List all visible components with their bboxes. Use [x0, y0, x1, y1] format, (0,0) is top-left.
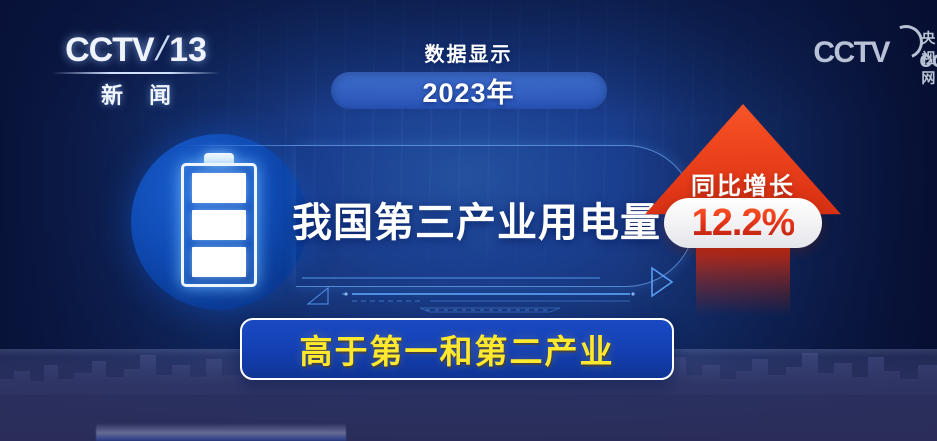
battery-segment	[192, 247, 246, 277]
year-pill: 2023年	[331, 72, 607, 109]
broadcast-infographic-stage: CCTV / 13 新 闻 CCTV 央视网 com 数据显示 2023年 我国…	[0, 0, 937, 441]
battery-segment	[192, 173, 246, 203]
growth-value: 12.2%	[692, 204, 795, 242]
battery-body	[181, 163, 257, 287]
growth-arrow: 同比增长 12.2%	[645, 104, 841, 316]
comparison-banner-text: 高于第一和第二产业	[300, 325, 615, 373]
header-subtitle: 数据显示	[0, 38, 937, 67]
main-headline: 我国第三产业用电量	[292, 190, 652, 248]
hud-decoration-lines	[300, 258, 680, 314]
lower-third-placeholder	[96, 423, 346, 441]
year-label: 2023年	[422, 71, 514, 110]
battery-segment	[192, 210, 246, 240]
growth-value-pill: 12.2%	[664, 198, 822, 248]
comparison-banner: 高于第一和第二产业	[240, 318, 674, 380]
growth-label: 同比增长	[645, 166, 841, 201]
cctv13-subtitle: 新 闻	[46, 78, 226, 110]
cctv13-divider	[52, 72, 220, 74]
battery-icon	[181, 153, 257, 287]
